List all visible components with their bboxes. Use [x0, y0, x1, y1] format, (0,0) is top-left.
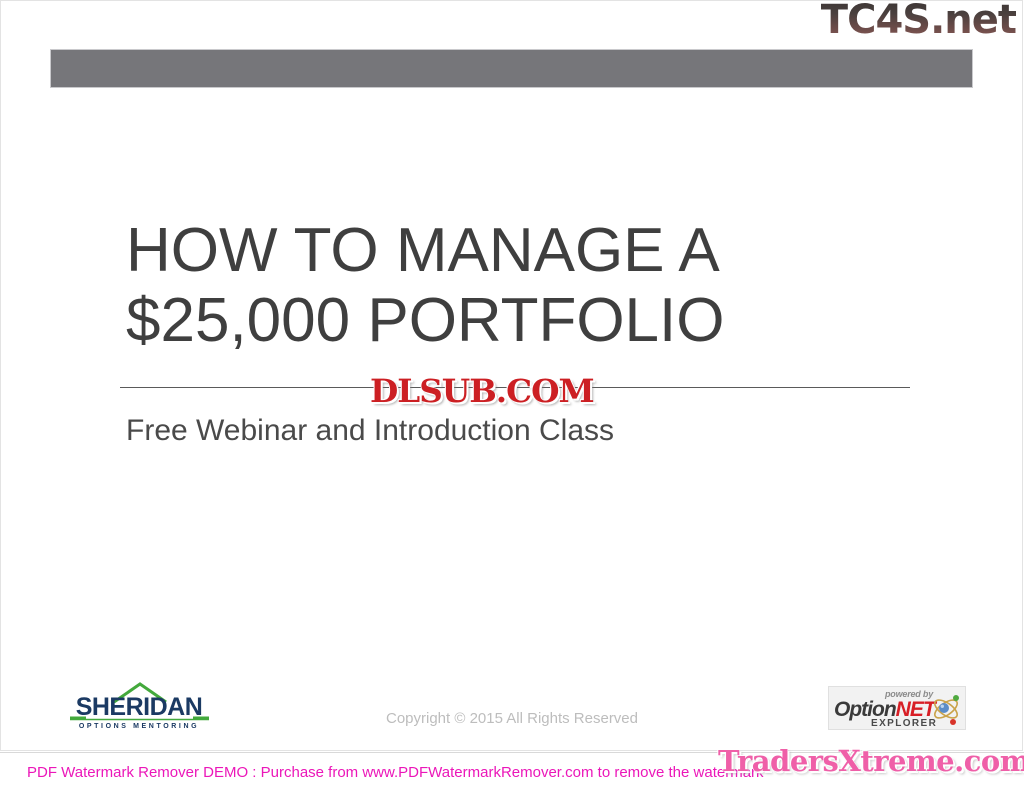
atom-icon: [931, 693, 961, 730]
optionnet-explorer-logo: powered by OptionNET EXPLORER: [828, 686, 966, 730]
dlsub-site-watermark: DLSUB.COM: [370, 374, 594, 408]
slide-subtitle: Free Webinar and Introduction Class: [126, 412, 614, 450]
pdf-watermark-message: PDF Watermark Remover DEMO : Purchase fr…: [27, 764, 764, 781]
tc4s-site-watermark: TC4S.net: [821, 0, 1016, 42]
presentation-slide: TC4S.net HOW TO MANAGE A $25,000 PORTFOL…: [0, 0, 1024, 791]
tradersxtreme-site-watermark: TradersXtreme.com: [718, 745, 1024, 777]
optionnet-explorer-text: EXPLORER: [871, 718, 937, 729]
title-block: HOW TO MANAGE A $25,000 PORTFOLIO: [126, 216, 916, 356]
header-gray-band: [50, 49, 973, 88]
page-title: HOW TO MANAGE A $25,000 PORTFOLIO: [126, 216, 916, 356]
